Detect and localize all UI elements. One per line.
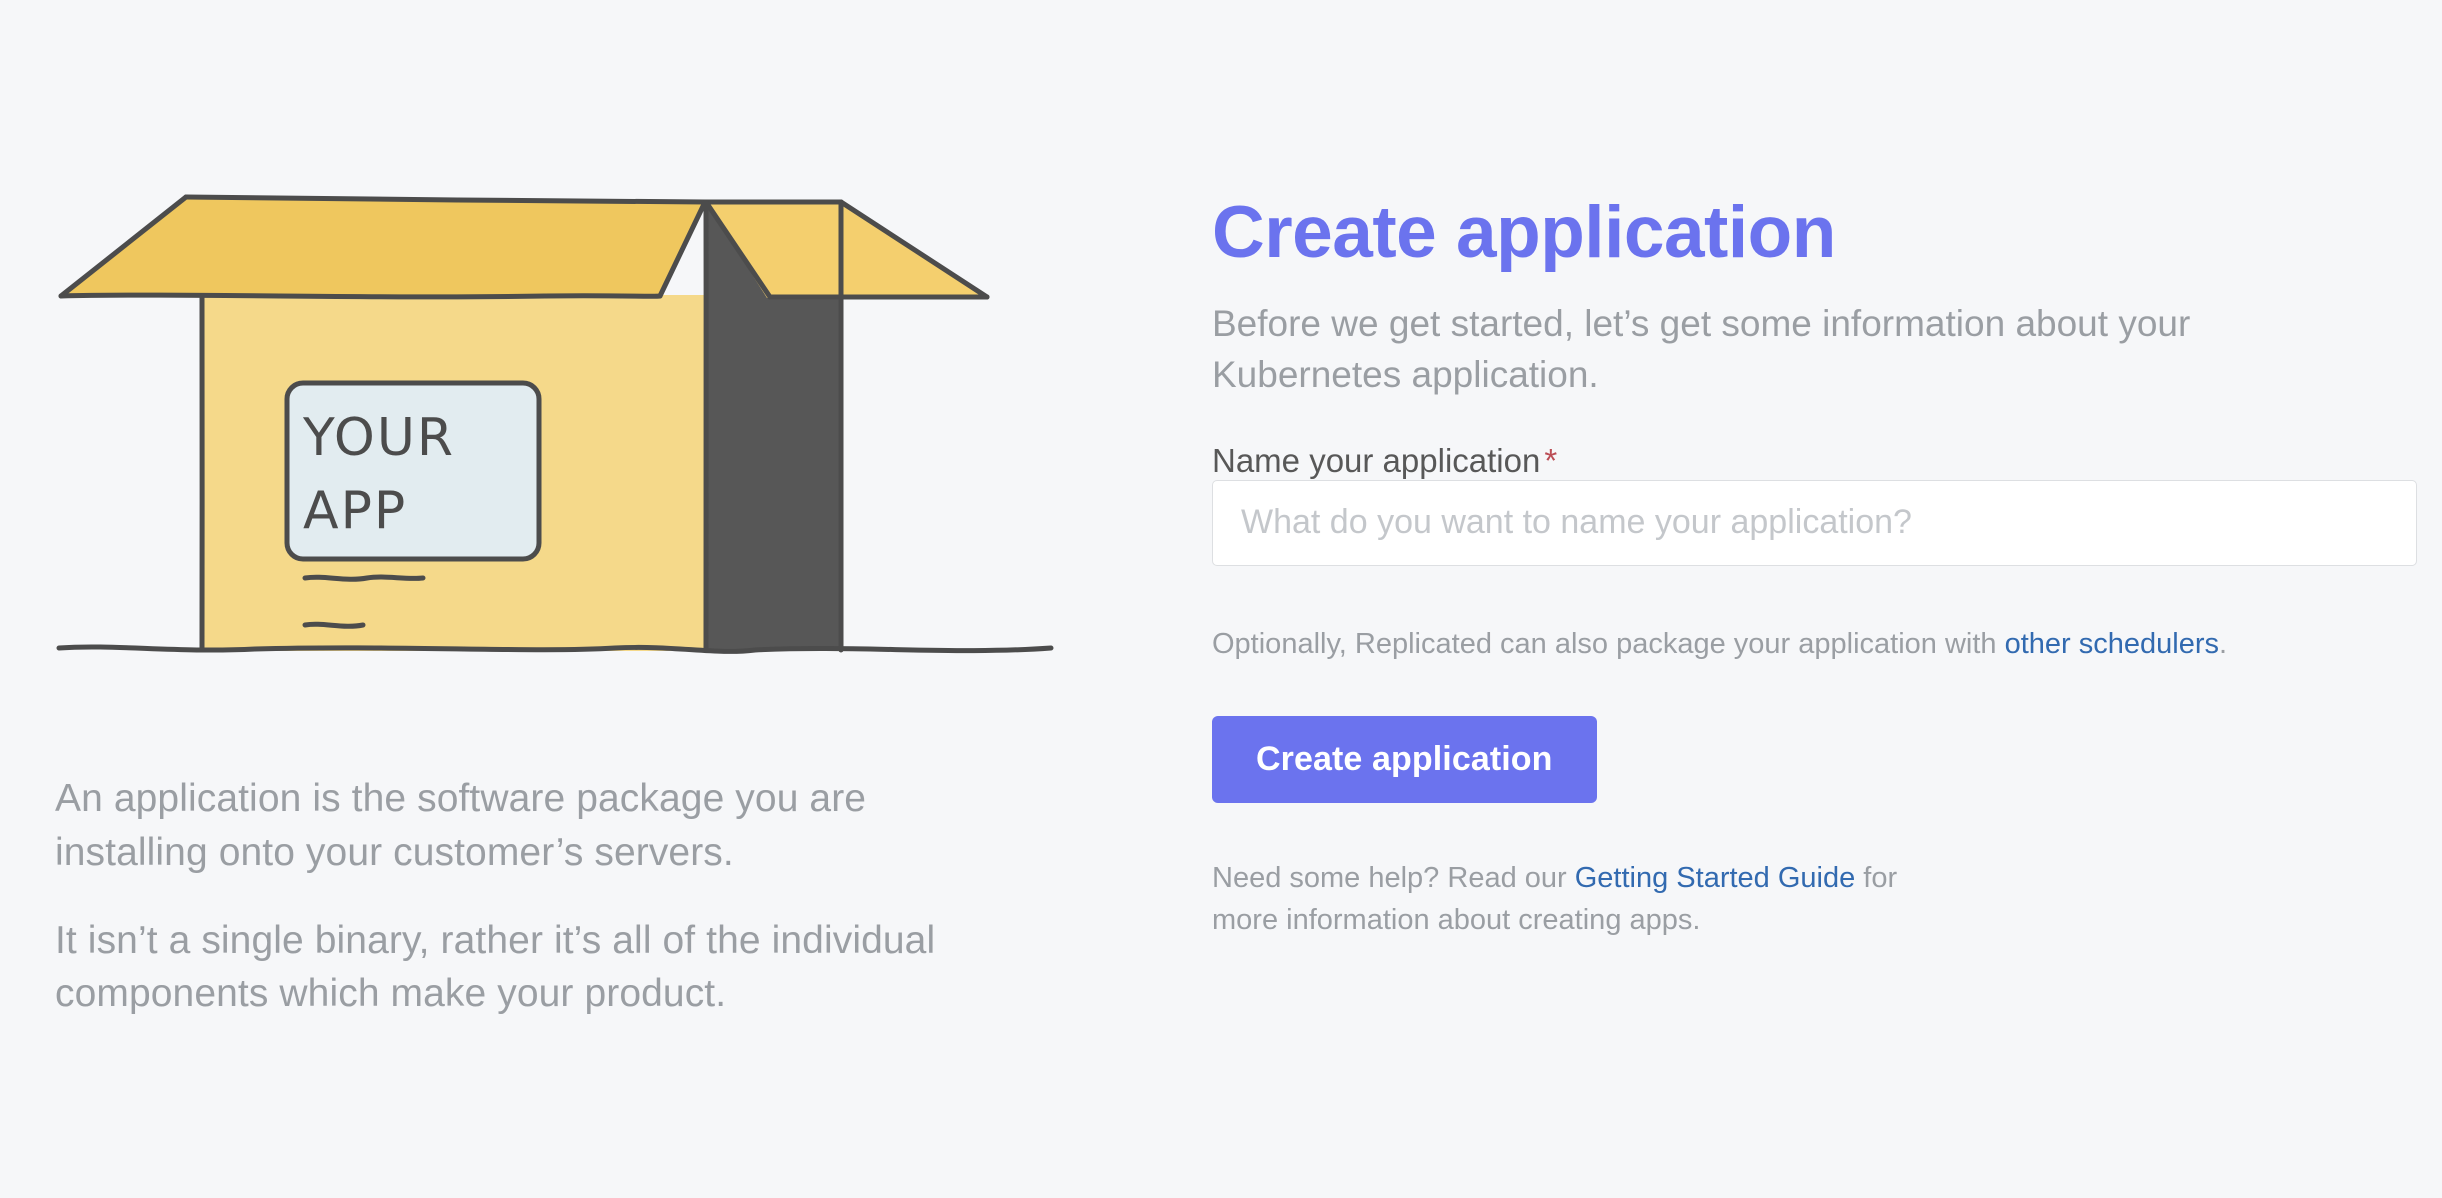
info-copy: An application is the software package y…: [55, 772, 1015, 1021]
help-note-prefix: Need some help? Read our: [1212, 862, 1575, 894]
application-name-input[interactable]: [1212, 480, 2417, 566]
form-column: Create application Before we get started…: [1100, 0, 2442, 941]
info-paragraph-1: An application is the software package y…: [55, 772, 1015, 880]
page-title: Create application: [1212, 195, 2442, 272]
form-subtitle: Before we get started, let’s get some in…: [1212, 298, 2352, 400]
application-name-label-text: Name your application: [1212, 442, 1540, 479]
getting-started-guide-link[interactable]: Getting Started Guide: [1575, 862, 1856, 894]
optional-note-prefix: Optionally, Replicated can also package …: [1212, 628, 2005, 660]
help-note: Need some help? Read our Getting Started…: [1212, 858, 1932, 941]
cardboard-box-illustration: YOUR APP: [55, 185, 1055, 730]
create-application-button[interactable]: Create application: [1212, 716, 1597, 803]
box-label-line-1: YOUR: [302, 408, 455, 468]
info-column: YOUR APP An application is the software …: [0, 0, 1100, 1021]
application-name-label: Name your application*: [1212, 442, 1557, 479]
optional-note-suffix: .: [2219, 628, 2227, 660]
other-schedulers-link[interactable]: other schedulers: [2005, 628, 2219, 660]
optional-scheduler-note: Optionally, Replicated can also package …: [1212, 624, 2442, 665]
required-marker: *: [1544, 442, 1557, 479]
info-paragraph-2: It isn’t a single binary, rather it’s al…: [55, 914, 1015, 1022]
box-label-line-2: APP: [303, 481, 407, 541]
create-application-page: YOUR APP An application is the software …: [0, 0, 2442, 1198]
